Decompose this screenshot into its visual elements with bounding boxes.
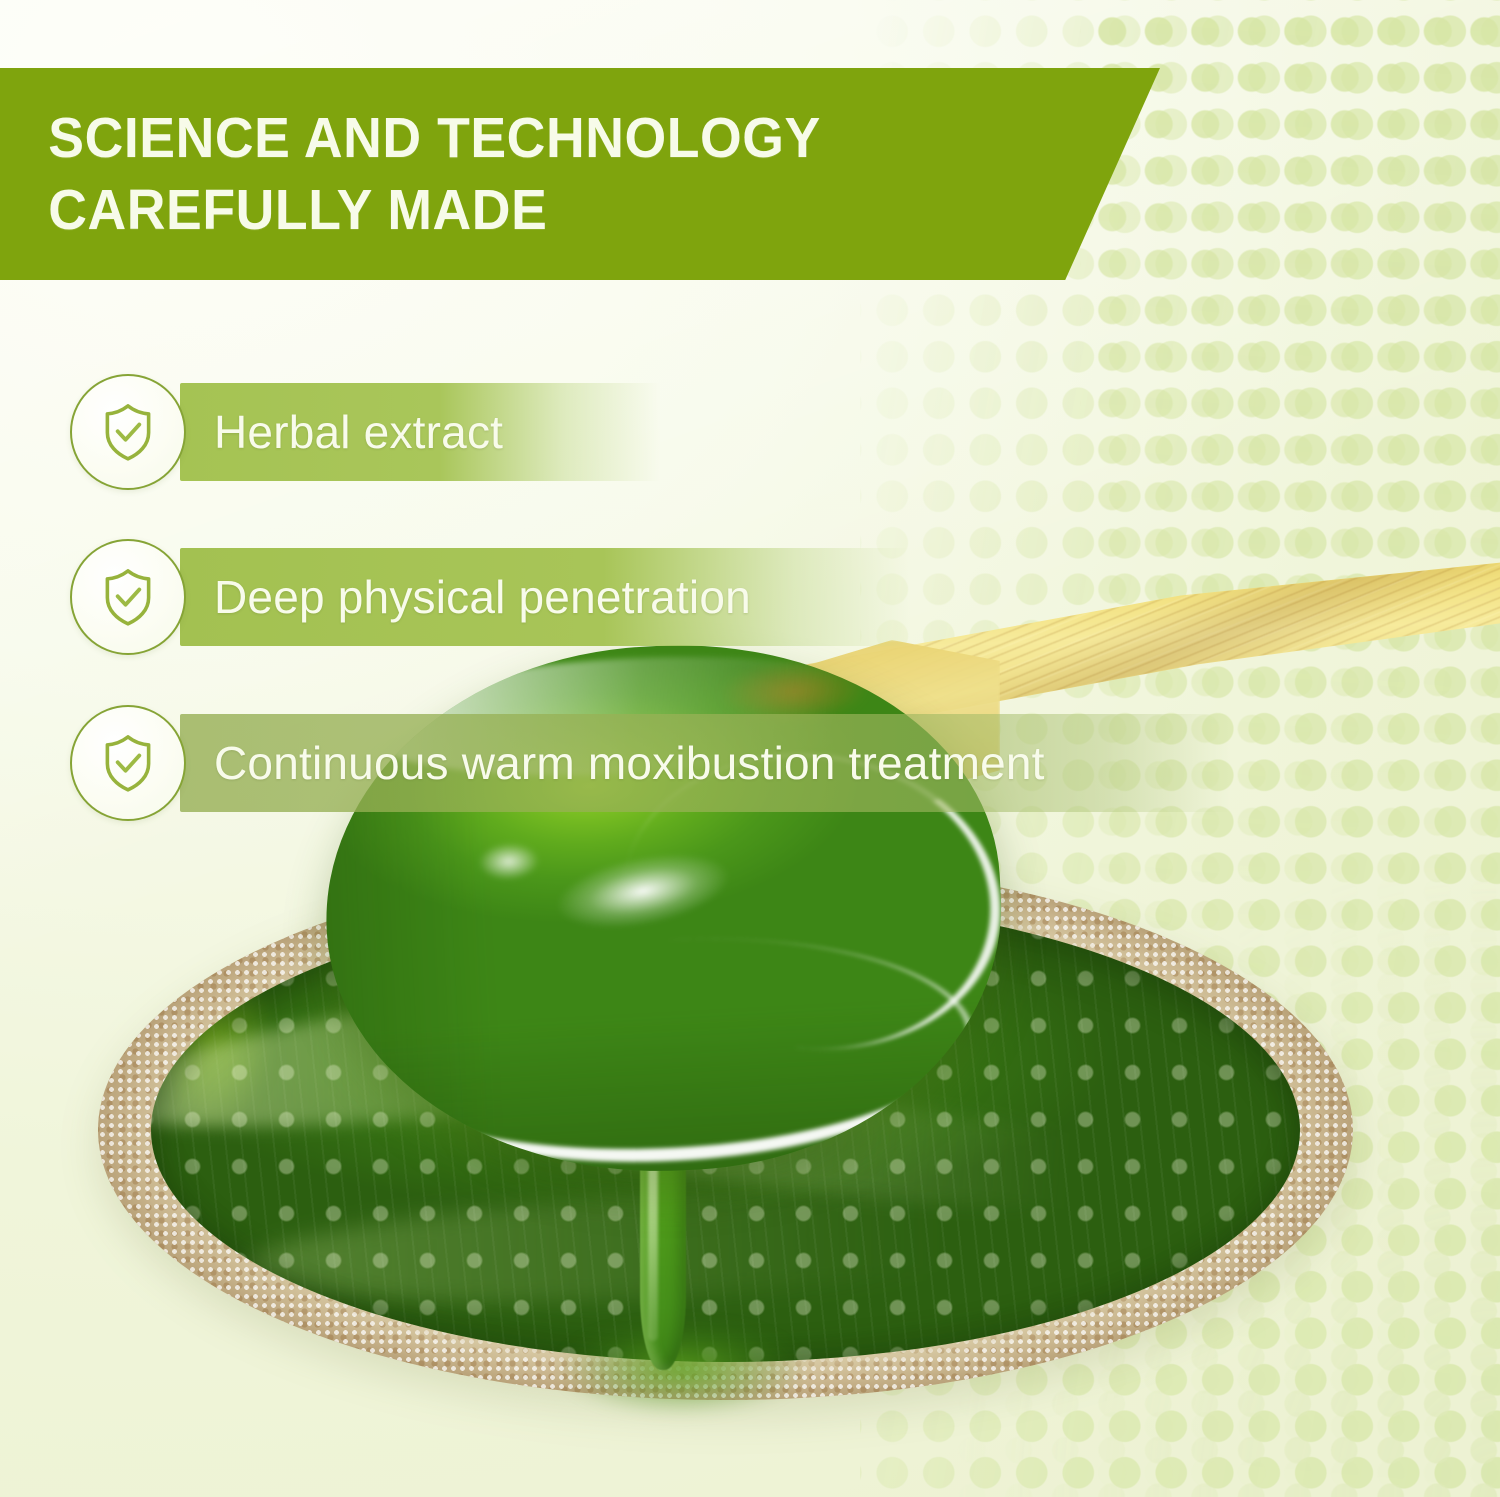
- feature-row-herbal-extract: Herbal extract: [70, 373, 503, 491]
- feature-list: Herbal extract Deep physical penetration…: [0, 0, 1500, 1497]
- feature-label: Continuous warm moxibustion treatment: [214, 740, 1045, 786]
- feature-row-continuous-warm-moxibustion-treatment: Continuous warm moxibustion treatment: [70, 704, 1045, 822]
- product-feature-graphic: SCIENCE AND TECHNOLOGY CAREFULLY MADE He…: [0, 0, 1500, 1497]
- shield-check-icon: [70, 705, 186, 821]
- shield-check-icon: [70, 374, 186, 490]
- feature-label: Deep physical penetration: [214, 574, 751, 620]
- feature-label: Herbal extract: [214, 409, 503, 455]
- feature-row-deep-physical-penetration: Deep physical penetration: [70, 538, 751, 656]
- shield-check-icon: [70, 539, 186, 655]
